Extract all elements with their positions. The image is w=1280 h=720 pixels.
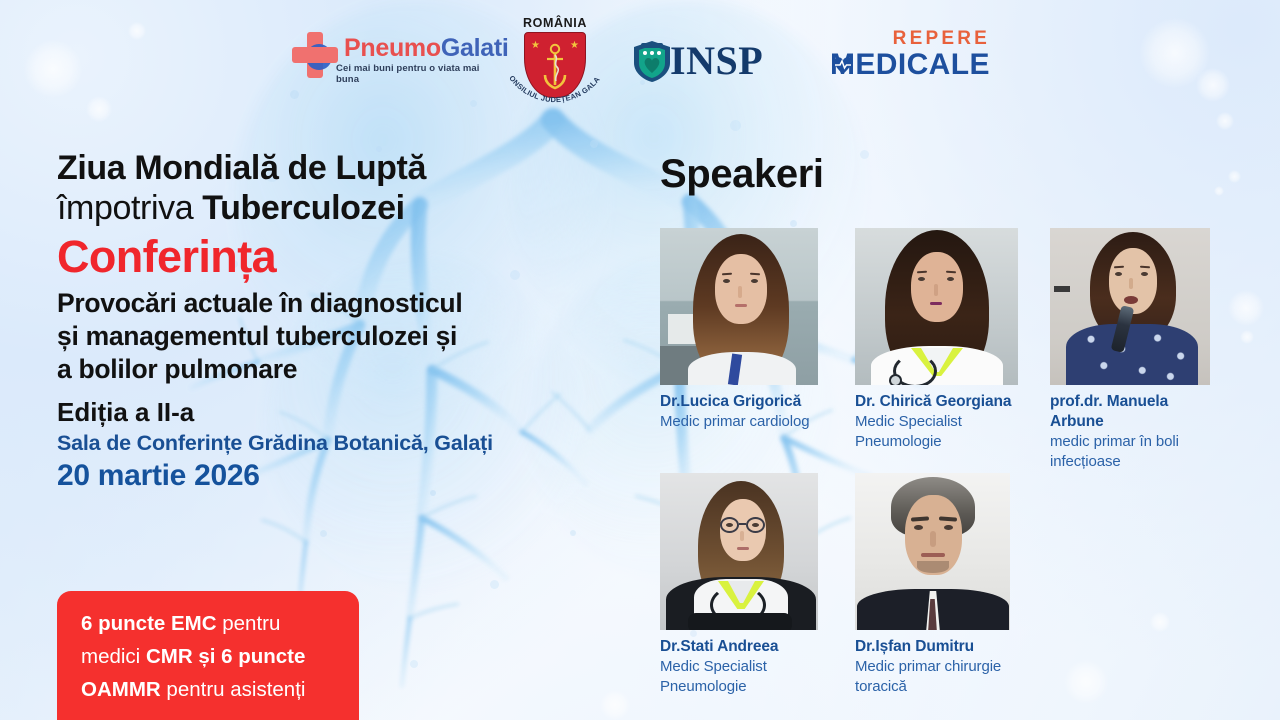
- conference-word: Conferința: [57, 230, 527, 284]
- badge-line-3-rest: pentru asistenți: [161, 678, 306, 701]
- speaker-role-5-line-1: Medic primar chirurgie: [855, 657, 1015, 677]
- speaker-name-1: Dr.Lucica Grigorică: [660, 392, 820, 412]
- speaker-card-5: Dr.Ișfan Dumitru Medic primar chirurgie …: [855, 473, 1015, 697]
- speaker-name-2: Dr. Chirică Georgiana: [855, 392, 1020, 412]
- speaker-role-3-line-1: medic primar în boli infecțioase: [1050, 432, 1215, 472]
- speaker-card-4: Dr.Stati Andreea Medic Specialist Pneumo…: [660, 473, 820, 697]
- subtitle-line-2: și managementul tuberculozei și: [57, 320, 527, 353]
- logo-insp-wordmark: INSP: [670, 37, 763, 84]
- logo-pneumo-galati-tagline: Cei mai buni pentru o viata mai buna: [336, 63, 482, 85]
- logo-pneumo-galati: PneumoGalati Cei mai buni pentru o viata…: [292, 30, 482, 82]
- heart-pulse-icon: [832, 52, 854, 76]
- badge-line-3-bold: OAMMR: [81, 678, 161, 701]
- logo-word-repere: REPERE: [893, 28, 990, 50]
- speaker-card-1: Dr.Lucica Grigorică Medic primar cardiol…: [660, 228, 820, 432]
- speaker-role-4-line-2: Pneumologie: [660, 677, 820, 697]
- venue-label: Sala de Conferințe Grădina Botanică, Gal…: [57, 429, 527, 457]
- speaker-card-2: Dr. Chirică Georgiana Medic Specialist P…: [855, 228, 1020, 452]
- badge-line-3: OAMMR pentru asistenți: [81, 673, 339, 706]
- speaker-role-4-line-1: Medic Specialist: [660, 657, 820, 677]
- poster-canvas: PneumoGalati Cei mai buni pentru o viata…: [0, 0, 1280, 720]
- speaker-photo-isfan-dumitru: [855, 473, 1010, 630]
- badge-line-1-bold: 6 puncte EMC: [81, 612, 217, 635]
- headline-line-2-light: împotriva: [57, 189, 202, 227]
- badge-line-1-rest: pentru: [217, 612, 281, 635]
- svg-text:CONSILIUL JUDEȚEAN GALAȚI: CONSILIUL JUDEȚEAN GALAȚI: [505, 76, 602, 104]
- speaker-role-5-line-2: toracică: [855, 677, 1015, 697]
- speaker-photo-manuela-arbune: [1050, 228, 1210, 385]
- logo-word-galati: Galati: [441, 34, 509, 62]
- speaker-card-3: prof.dr. Manuela Arbune medic primar în …: [1050, 228, 1215, 472]
- speakers-heading: Speakeri: [660, 152, 824, 197]
- logo-consiliul-judetean-galati: ROMÂNIA ★★ CONSILIUL JU: [505, 16, 605, 108]
- date-label: 20 martie 2026: [57, 458, 527, 494]
- speaker-photo-lucica-grigorica: [660, 228, 818, 385]
- speaker-role-1-line-1: Medic primar cardiolog: [660, 412, 820, 432]
- speaker-name-3: prof.dr. Manuela Arbune: [1050, 392, 1215, 432]
- headline-block: Ziua Mondială de Luptă împotriva Tubercu…: [57, 148, 527, 494]
- headline-line-2-bold: Tuberculozei: [202, 189, 404, 227]
- speaker-name-5: Dr.Ișfan Dumitru: [855, 637, 1015, 657]
- subtitle-line-1: Provocări actuale în diagnosticul: [57, 287, 527, 320]
- speaker-photo-chirica-georgiana: [855, 228, 1018, 385]
- insp-shield-icon: [632, 39, 672, 83]
- speaker-role-2-line-1: Medic Specialist: [855, 412, 1020, 432]
- speaker-name-4: Dr.Stati Andreea: [660, 637, 820, 657]
- edition-label: Ediția a II-a: [57, 396, 527, 428]
- headline-line-2: împotriva Tuberculozei: [57, 188, 527, 228]
- speaker-role-2-line-2: Pneumologie: [855, 432, 1020, 452]
- badge-line-2-light: medici: [81, 645, 146, 668]
- headline-line-1: Ziua Mondială de Luptă: [57, 148, 527, 188]
- logo-repere-medicale: REPERE MEDICALE: [830, 28, 990, 80]
- speaker-photo-stati-andreea: [660, 473, 818, 630]
- logo-word-pneumo: Pneumo: [344, 34, 441, 62]
- emc-credits-badge: 6 puncte EMC pentru medici CMR și 6 punc…: [57, 591, 359, 720]
- logo-insp: INSP: [632, 38, 782, 84]
- logo-romania-title: ROMÂNIA: [505, 16, 605, 30]
- medical-cross-icon: [292, 32, 338, 78]
- logo-cj-subtitle-arc: CONSILIUL JUDEȚEAN GALAȚI: [505, 76, 605, 106]
- logo-pneumo-galati-wordmark: PneumoGalati: [344, 34, 509, 63]
- subtitle-line-3: a bolilor pulmonare: [57, 353, 527, 386]
- badge-line-2-bold: CMR și 6 puncte: [146, 645, 305, 668]
- badge-line-2: medici CMR și 6 puncte: [81, 640, 339, 673]
- badge-line-1: 6 puncte EMC pentru: [81, 607, 339, 640]
- logo-bar: PneumoGalati Cei mai buni pentru o viata…: [0, 0, 1280, 110]
